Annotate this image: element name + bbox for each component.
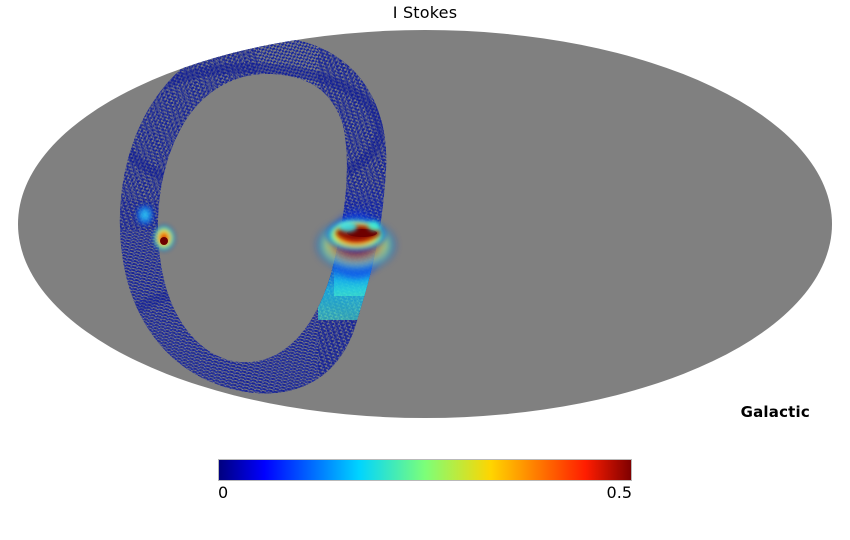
colorbar-min-label: 0 xyxy=(218,482,228,504)
colorbar-track[interactable] xyxy=(218,459,632,481)
hotspot-secondary xyxy=(153,225,175,251)
colorbar-gradient xyxy=(219,460,631,480)
page-title: I Stokes xyxy=(0,3,850,23)
colorbar[interactable]: 0 0.5 xyxy=(218,459,632,506)
hotspot-tertiary xyxy=(136,204,154,226)
figure-canvas: I Stokes xyxy=(0,0,850,540)
colorbar-max-label: 0.5 xyxy=(607,482,632,504)
sky-map[interactable] xyxy=(18,30,832,418)
colorbar-ticks: 0 0.5 xyxy=(218,482,632,506)
coordinate-system-label: Galactic xyxy=(741,403,810,421)
